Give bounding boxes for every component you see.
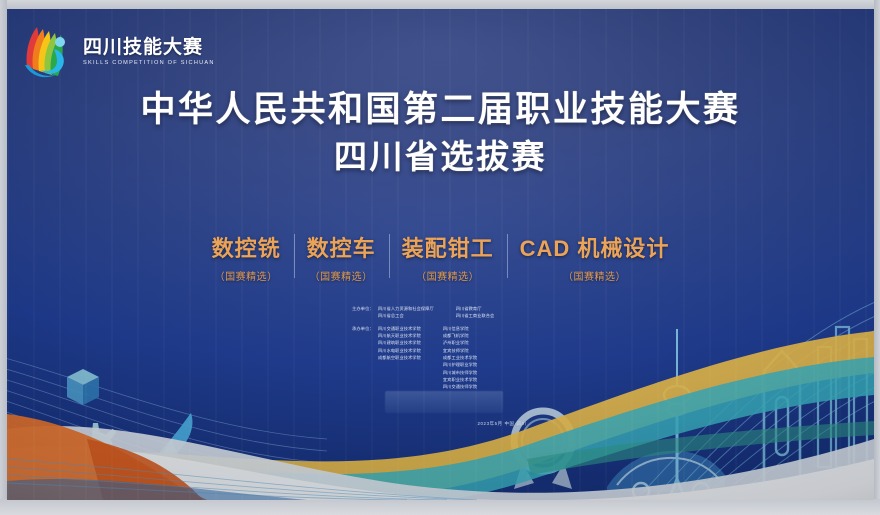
category-item: 数控车 （国赛精选） — [294, 231, 389, 283]
event-logo: 四川技能大赛 SKILLS COMPETITION OF SICHUAN — [21, 21, 193, 83]
undertaker-column-1: 四川交通职业技术学院 四川航天职业技术学院 四川建筑职业技术学院 四川水电职业技… — [378, 325, 421, 391]
organizer-credits: 主办单位： 四川省人力资源和社会保障厅 四川省总工会 四川省教育厅 四川省工商业… — [352, 305, 652, 396]
host-organizer-label: 主办单位： — [352, 305, 378, 320]
category-name: 数控铣 — [212, 231, 281, 263]
undertaker-entry: 宜宾职业技术学院 — [443, 376, 477, 383]
undertaker-entry: 成都航空职业技术学院 — [378, 354, 421, 361]
undertaker-entry: 四川护理职业学院 — [443, 361, 477, 368]
undertaker-organizer-label: 承办单位： — [352, 325, 378, 391]
category-subtitle: （国赛精选） — [402, 268, 494, 283]
category-subtitle: （国赛精选） — [520, 268, 670, 283]
host-organizer-entry: 四川省人力资源和社会保障厅 — [378, 305, 434, 312]
category-name: CAD 机械设计 — [520, 231, 670, 263]
logo-text-block: 四川技能大赛 SKILLS COMPETITION OF SICHUAN — [83, 38, 215, 67]
host-organizer-entry: 四川省总工会 — [378, 312, 434, 319]
event-dateline: 2023年5月 中国·四川 — [352, 421, 652, 427]
title-line-1: 中华人民共和国第二届职业技能大赛 — [7, 89, 874, 132]
competition-categories: 数控铣 （国赛精选） 数控车 （国赛精选） 装配钳工 （国赛精选） CAD 机械… — [7, 231, 874, 283]
undertaker-entry: 四川信息学院 — [443, 325, 477, 332]
undertaker-entry: 四川水电职业技术学院 — [378, 347, 421, 354]
undertaker-entry: 成都工业技术学院 — [443, 354, 477, 361]
photo-frame-top — [0, 0, 880, 9]
photo-frame-left — [0, 0, 7, 515]
undertaker-entry: 宜宾技师学院 — [443, 347, 477, 354]
photo-frame-bottom — [0, 499, 880, 515]
host-organizer-entry: 四川省工商业联合会 — [456, 312, 495, 319]
undertaker-organizer-block: 承办单位： 四川交通职业技术学院 四川航天职业技术学院 四川建筑职业技术学院 四… — [352, 325, 652, 391]
host-organizer-entry: 四川省教育厅 — [456, 305, 495, 312]
undertaker-entry: 四川航天职业技术学院 — [378, 332, 421, 339]
undertaker-entry: 泸州职业学院 — [443, 339, 477, 346]
undertaker-entry: 成都飞机学院 — [443, 332, 477, 339]
logo-chinese-name: 四川技能大赛 — [83, 38, 215, 58]
category-name: 装配钳工 — [402, 231, 494, 263]
undertaker-entry: 四川交通技师学院 — [443, 383, 477, 390]
undertaker-column-2: 四川信息学院 成都飞机学院 泸州职业学院 宜宾技师学院 成都工业技术学院 四川护… — [443, 325, 477, 391]
host-organizer-column-2: 四川省教育厅 四川省工商业联合会 — [456, 305, 495, 320]
photo-frame-right — [874, 0, 880, 515]
category-subtitle: （国赛精选） — [307, 268, 376, 283]
screenshot-root: 四川技能大赛 SKILLS COMPETITION OF SICHUAN 中华人… — [0, 0, 880, 515]
title-line-2: 四川省选拔赛 — [7, 136, 874, 177]
category-item: 装配钳工 （国赛精选） — [389, 231, 507, 283]
category-subtitle: （国赛精选） — [212, 268, 281, 283]
main-title-block: 中华人民共和国第二届职业技能大赛 四川省选拔赛 — [7, 89, 874, 177]
event-backdrop-banner: 四川技能大赛 SKILLS COMPETITION OF SICHUAN 中华人… — [7, 9, 874, 500]
sichuan-skills-rainbow-logo-icon — [21, 23, 77, 81]
category-item: 数控铣 （国赛精选） — [199, 231, 294, 283]
undertaker-entry: 四川城市技师学院 — [443, 369, 477, 376]
host-organizer-column-1: 四川省人力资源和社会保障厅 四川省总工会 — [378, 305, 434, 320]
logo-english-name: SKILLS COMPETITION OF SICHUAN — [83, 60, 215, 66]
category-item: CAD 机械设计 （国赛精选） — [507, 231, 683, 283]
host-organizer-block: 主办单位： 四川省人力资源和社会保障厅 四川省总工会 四川省教育厅 四川省工商业… — [352, 305, 652, 320]
undertaker-entry: 四川交通职业技术学院 — [378, 325, 421, 332]
undertaker-entry: 四川建筑职业技术学院 — [378, 339, 421, 346]
category-name: 数控车 — [307, 231, 376, 263]
